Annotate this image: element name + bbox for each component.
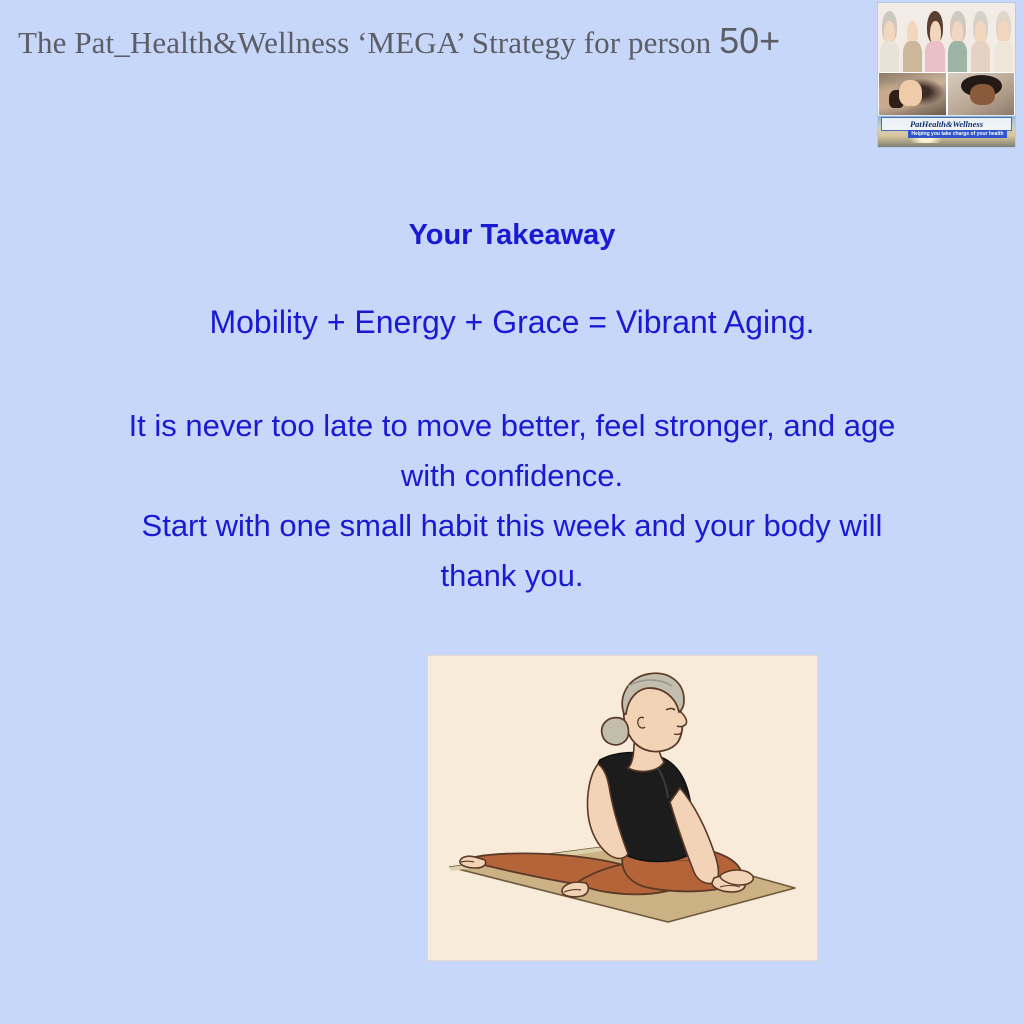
logo-woman-6 — [992, 3, 1015, 72]
takeaway-paragraph-line-1: It is never too late to move better, fee… — [62, 401, 962, 451]
logo-woman-body — [903, 41, 922, 71]
logo-woman-body — [971, 41, 990, 71]
takeaway-paragraph-line-4: thank you. — [62, 551, 962, 601]
logo-woman-4 — [946, 3, 969, 72]
logo-banner: PatHealth&Wellness Helping you take char… — [878, 115, 1015, 147]
pathealth-wellness-logo: PatHealth&Wellness Helping you take char… — [877, 2, 1016, 148]
main-content: Your Takeaway Mobility + Energy + Grace … — [0, 215, 1024, 601]
page-title-text: The Pat_Health&Wellness ‘MEGA’ Strategy … — [18, 25, 719, 60]
takeaway-heading: Your Takeaway — [0, 215, 1024, 255]
page-title: The Pat_Health&Wellness ‘MEGA’ Strategy … — [18, 20, 780, 62]
logo-women-illustration-row — [878, 3, 1015, 72]
older-woman-yoga-pigeon-pose-image — [427, 655, 818, 961]
page-title-age: 50+ — [719, 20, 780, 61]
logo-woman-1 — [878, 3, 901, 72]
yoga-illustration-svg — [428, 656, 817, 960]
page-header: The Pat_Health&Wellness ‘MEGA’ Strategy … — [0, 0, 1024, 155]
logo-woman-body — [925, 41, 944, 71]
logo-photo-laughing-woman — [948, 73, 1015, 115]
logo-tagline: Helping you take charge of your health — [908, 130, 1007, 138]
logo-woman-body — [994, 41, 1013, 71]
logo-photo-row — [878, 72, 1015, 115]
logo-brand-name: PatHealth&Wellness — [881, 117, 1012, 131]
logo-woman-2 — [901, 3, 924, 72]
logo-woman-3 — [924, 3, 947, 72]
takeaway-paragraph-line-3: Start with one small habit this week and… — [62, 501, 962, 551]
takeaway-paragraph-line-2: with confidence. — [62, 451, 962, 501]
takeaway-equation: Mobility + Energy + Grace = Vibrant Agin… — [0, 301, 1024, 343]
logo-woman-body — [948, 41, 967, 71]
logo-photo-group-of-women — [879, 73, 946, 115]
logo-woman-body — [880, 41, 899, 71]
logo-woman-5 — [969, 3, 992, 72]
